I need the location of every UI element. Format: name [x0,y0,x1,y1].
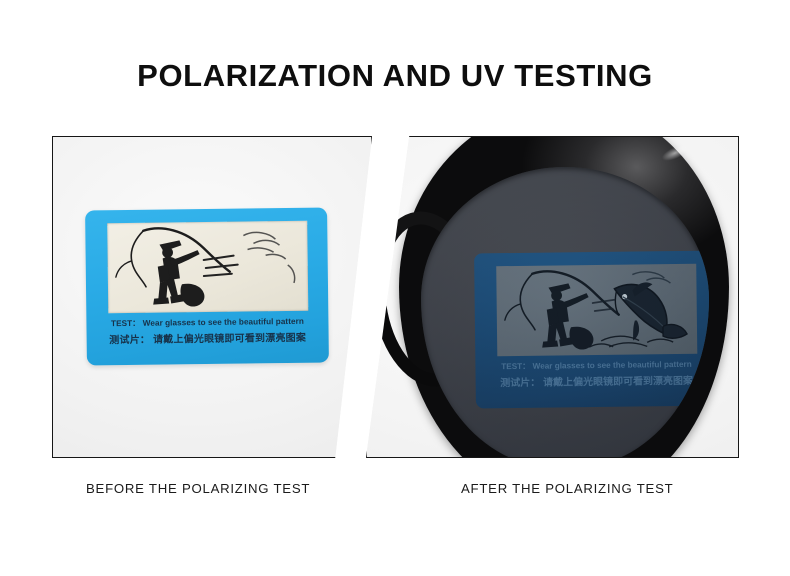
polarized-lens: TEST： Wear glasses to see the beautiful … [421,167,709,458]
test-card-before: TEST： Wear glasses to see the beautiful … [85,208,329,366]
test-card-after: TEST： Wear glasses to see the beautiful … [474,251,709,409]
hidden-fish-pattern [614,282,687,341]
fisherman-and-fish-pattern-icon [496,264,697,356]
test-card-text-cn-after: 测试片： 请戴上偏光眼镜即可看到漂亮图案 [476,372,709,390]
test-card-text-cn-before: 测试片： 请戴上偏光眼镜即可看到漂亮图案 [87,329,329,347]
panel-after-test: TEST： Wear glasses to see the beautiful … [366,136,739,458]
sunglasses-frame: TEST： Wear glasses to see the beautiful … [399,136,729,458]
test-card-window-after [496,264,697,356]
frame-highlight-secondary [616,136,644,141]
scene-before-photo: TEST： Wear glasses to see the beautiful … [53,137,371,457]
fisherman-pattern-icon [107,221,308,313]
page-title: POLARIZATION AND UV TESTING [0,58,790,94]
frame-highlight [653,138,696,169]
scene-after-photo: TEST： Wear glasses to see the beautiful … [367,137,738,457]
test-card-text-en-before: TEST： Wear glasses to see the beautiful … [86,315,328,330]
test-card-text-en-after: TEST： Wear glasses to see the beautiful … [475,358,709,373]
caption-before: BEFORE THE POLARIZING TEST [86,481,310,496]
caption-after: AFTER THE POLARIZING TEST [461,481,673,496]
test-card-window-before [107,221,308,313]
panel-before-test: TEST： Wear glasses to see the beautiful … [52,136,372,458]
